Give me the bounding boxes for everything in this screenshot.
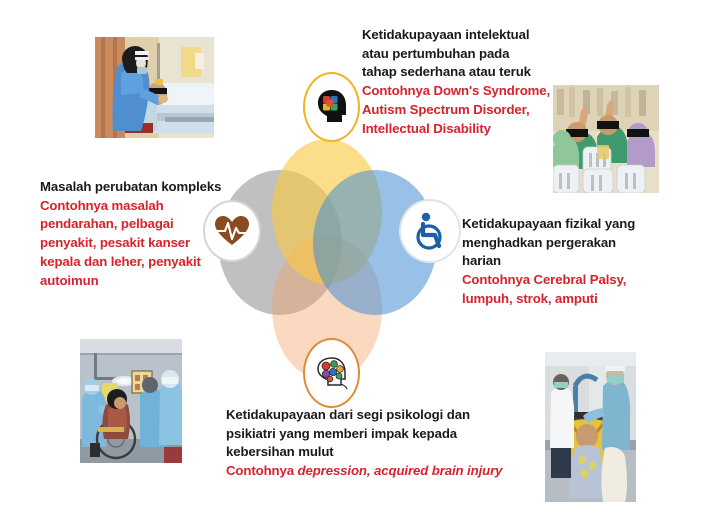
medical-example-line-4: kepala dan leher, penyakit (40, 253, 235, 272)
badge-psych (303, 338, 360, 408)
physical-heading-line-1: Ketidakupayaan fizikal yang (462, 215, 677, 234)
text-block-intellectual: Ketidakupayaan intelektual atau pertumbu… (362, 26, 572, 138)
intellectual-example-line-2: Autism Spectrum Disorder, (362, 101, 572, 120)
photo-hoist (545, 352, 636, 502)
text-block-physical: Ketidakupayaan fizikal yang menghadkan p… (462, 215, 677, 309)
physical-heading-line-3: harian (462, 252, 677, 271)
intellectual-example-line-3: Intellectual Disability (362, 120, 572, 139)
psych-heading-line-1: Ketidakupayaan dari segi psikologi dan (226, 406, 526, 425)
psych-example-prefix: Contohnya (226, 463, 298, 478)
intellectual-heading-line-1: Ketidakupayaan intelektual (362, 26, 572, 45)
physical-example-line-2: lumpuh, strok, amputi (462, 290, 677, 309)
intellectual-example-line-1: Contohnya Down's Syndrome, (362, 82, 572, 101)
psych-heading-line-2: psikiatri yang memberi impak kepada (226, 425, 526, 444)
text-block-psychological: Ketidakupayaan dari segi psikologi dan p… (226, 406, 526, 481)
photo-bedside (95, 37, 214, 138)
photo-hoist-image (545, 352, 636, 502)
wheelchair-icon (413, 212, 447, 250)
intellectual-heading-line-3: tahap sederhana atau teruk (362, 63, 572, 82)
photo-clinic-image (80, 339, 182, 463)
medical-example-line-3: penyakit, pesakit kanser (40, 234, 235, 253)
medical-example-line-5: autoimun (40, 272, 235, 291)
text-block-medical: Masalah perubatan kompleks Contohnya mas… (40, 178, 235, 290)
medical-example-line-1: Contohnya masalah (40, 197, 235, 216)
gears-head-icon (314, 355, 350, 391)
medical-example-line-2: pendarahan, pelbagai (40, 215, 235, 234)
badge-intellectual (303, 72, 360, 142)
photo-clinic (80, 339, 182, 463)
psych-example-line: Contohnya depression, acquired brain inj… (226, 462, 526, 481)
psych-example-italic: depression, acquired brain injury (298, 463, 503, 478)
puzzle-head-icon (315, 88, 349, 126)
slide-canvas: Ketidakupayaan intelektual atau pertumbu… (0, 0, 713, 531)
medical-heading-line-1: Masalah perubatan kompleks (40, 178, 235, 197)
badge-physical (399, 199, 461, 263)
physical-example-line-1: Contohnya Cerebral Palsy, (462, 271, 677, 290)
psych-heading-line-3: kebersihan mulut (226, 443, 526, 462)
physical-heading-line-2: menghadkan pergerakan (462, 234, 677, 253)
intellectual-heading-line-2: atau pertumbuhan pada (362, 45, 572, 64)
photo-bedside-image (95, 37, 214, 138)
